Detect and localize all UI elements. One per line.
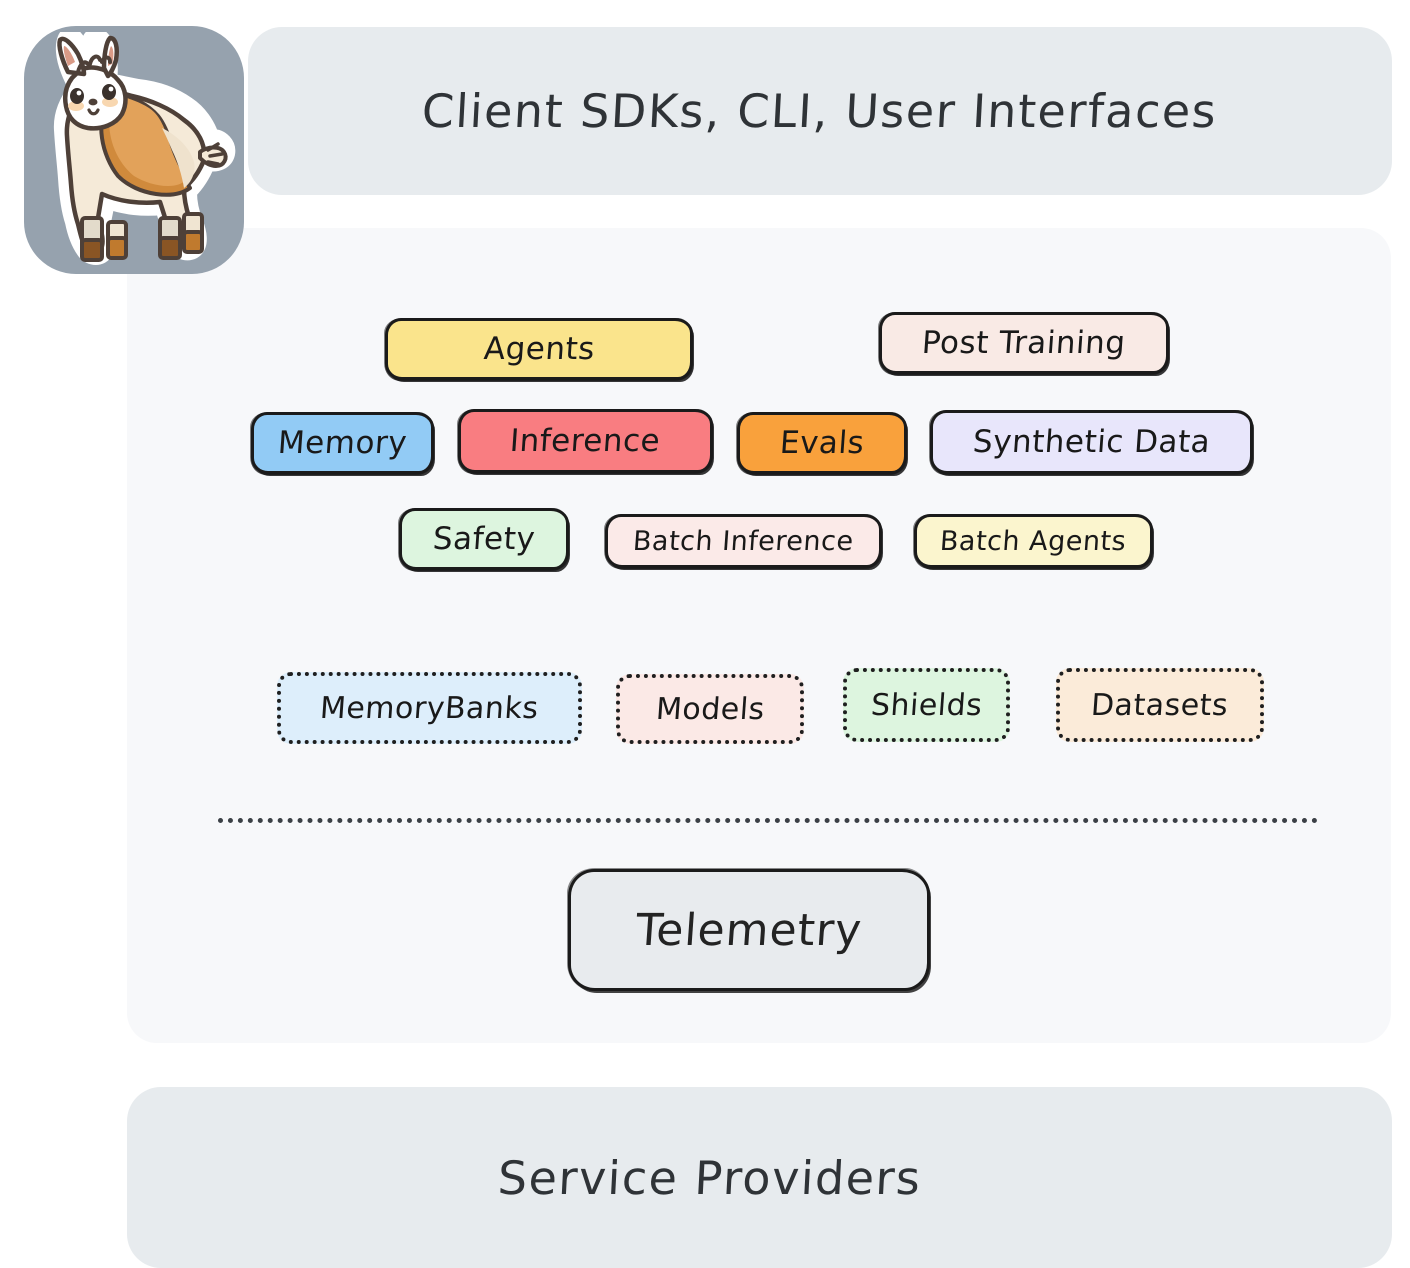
api-box-inference[interactable]: Inference [458,409,713,473]
resource-box-shields[interactable]: Shields [843,668,1010,742]
section-divider [218,818,1318,823]
service-providers-title: Service Providers [496,1151,922,1205]
client-layer-title: Client SDKs, CLI, User Interfaces [421,84,1219,138]
llama-logo [24,26,244,274]
api-box-label: Agents [482,331,595,367]
api-box-label: Synthetic Data [972,424,1212,460]
api-box-label: Inference [509,423,662,459]
service-providers-bar: Service Providers [127,1087,1392,1268]
api-box-batch-agents[interactable]: Batch Agents [914,514,1153,568]
api-box-synthetic-data[interactable]: Synthetic Data [930,410,1253,474]
resource-box-label: Datasets [1090,688,1230,723]
telemetry-box[interactable]: Telemetry [568,869,930,991]
diagram-canvas: Client SDKs, CLI, User Interfaces [0,0,1410,1268]
resource-box-label: Shields [870,688,984,723]
api-box-evals[interactable]: Evals [737,412,907,474]
api-box-safety[interactable]: Safety [399,508,569,570]
api-box-label: Evals [779,425,866,461]
api-box-label: Batch Inference [632,526,855,557]
api-box-post-training[interactable]: Post Training [879,312,1169,374]
resource-box-memorybanks[interactable]: MemoryBanks [277,672,582,744]
telemetry-label: Telemetry [634,905,864,956]
api-box-label: Memory [277,425,409,461]
api-box-agents[interactable]: Agents [385,318,693,380]
resource-box-models[interactable]: Models [616,674,804,744]
llama-illustration [32,32,236,268]
client-layer-bar: Client SDKs, CLI, User Interfaces [248,27,1392,195]
api-box-label: Batch Agents [939,526,1127,557]
api-box-memory[interactable]: Memory [251,412,434,474]
resource-box-label: Models [654,692,765,727]
api-box-batch-inference[interactable]: Batch Inference [605,514,882,568]
resource-box-datasets[interactable]: Datasets [1056,668,1264,742]
api-box-label: Post Training [921,325,1127,361]
api-box-label: Safety [432,521,537,557]
resource-box-label: MemoryBanks [319,691,540,726]
